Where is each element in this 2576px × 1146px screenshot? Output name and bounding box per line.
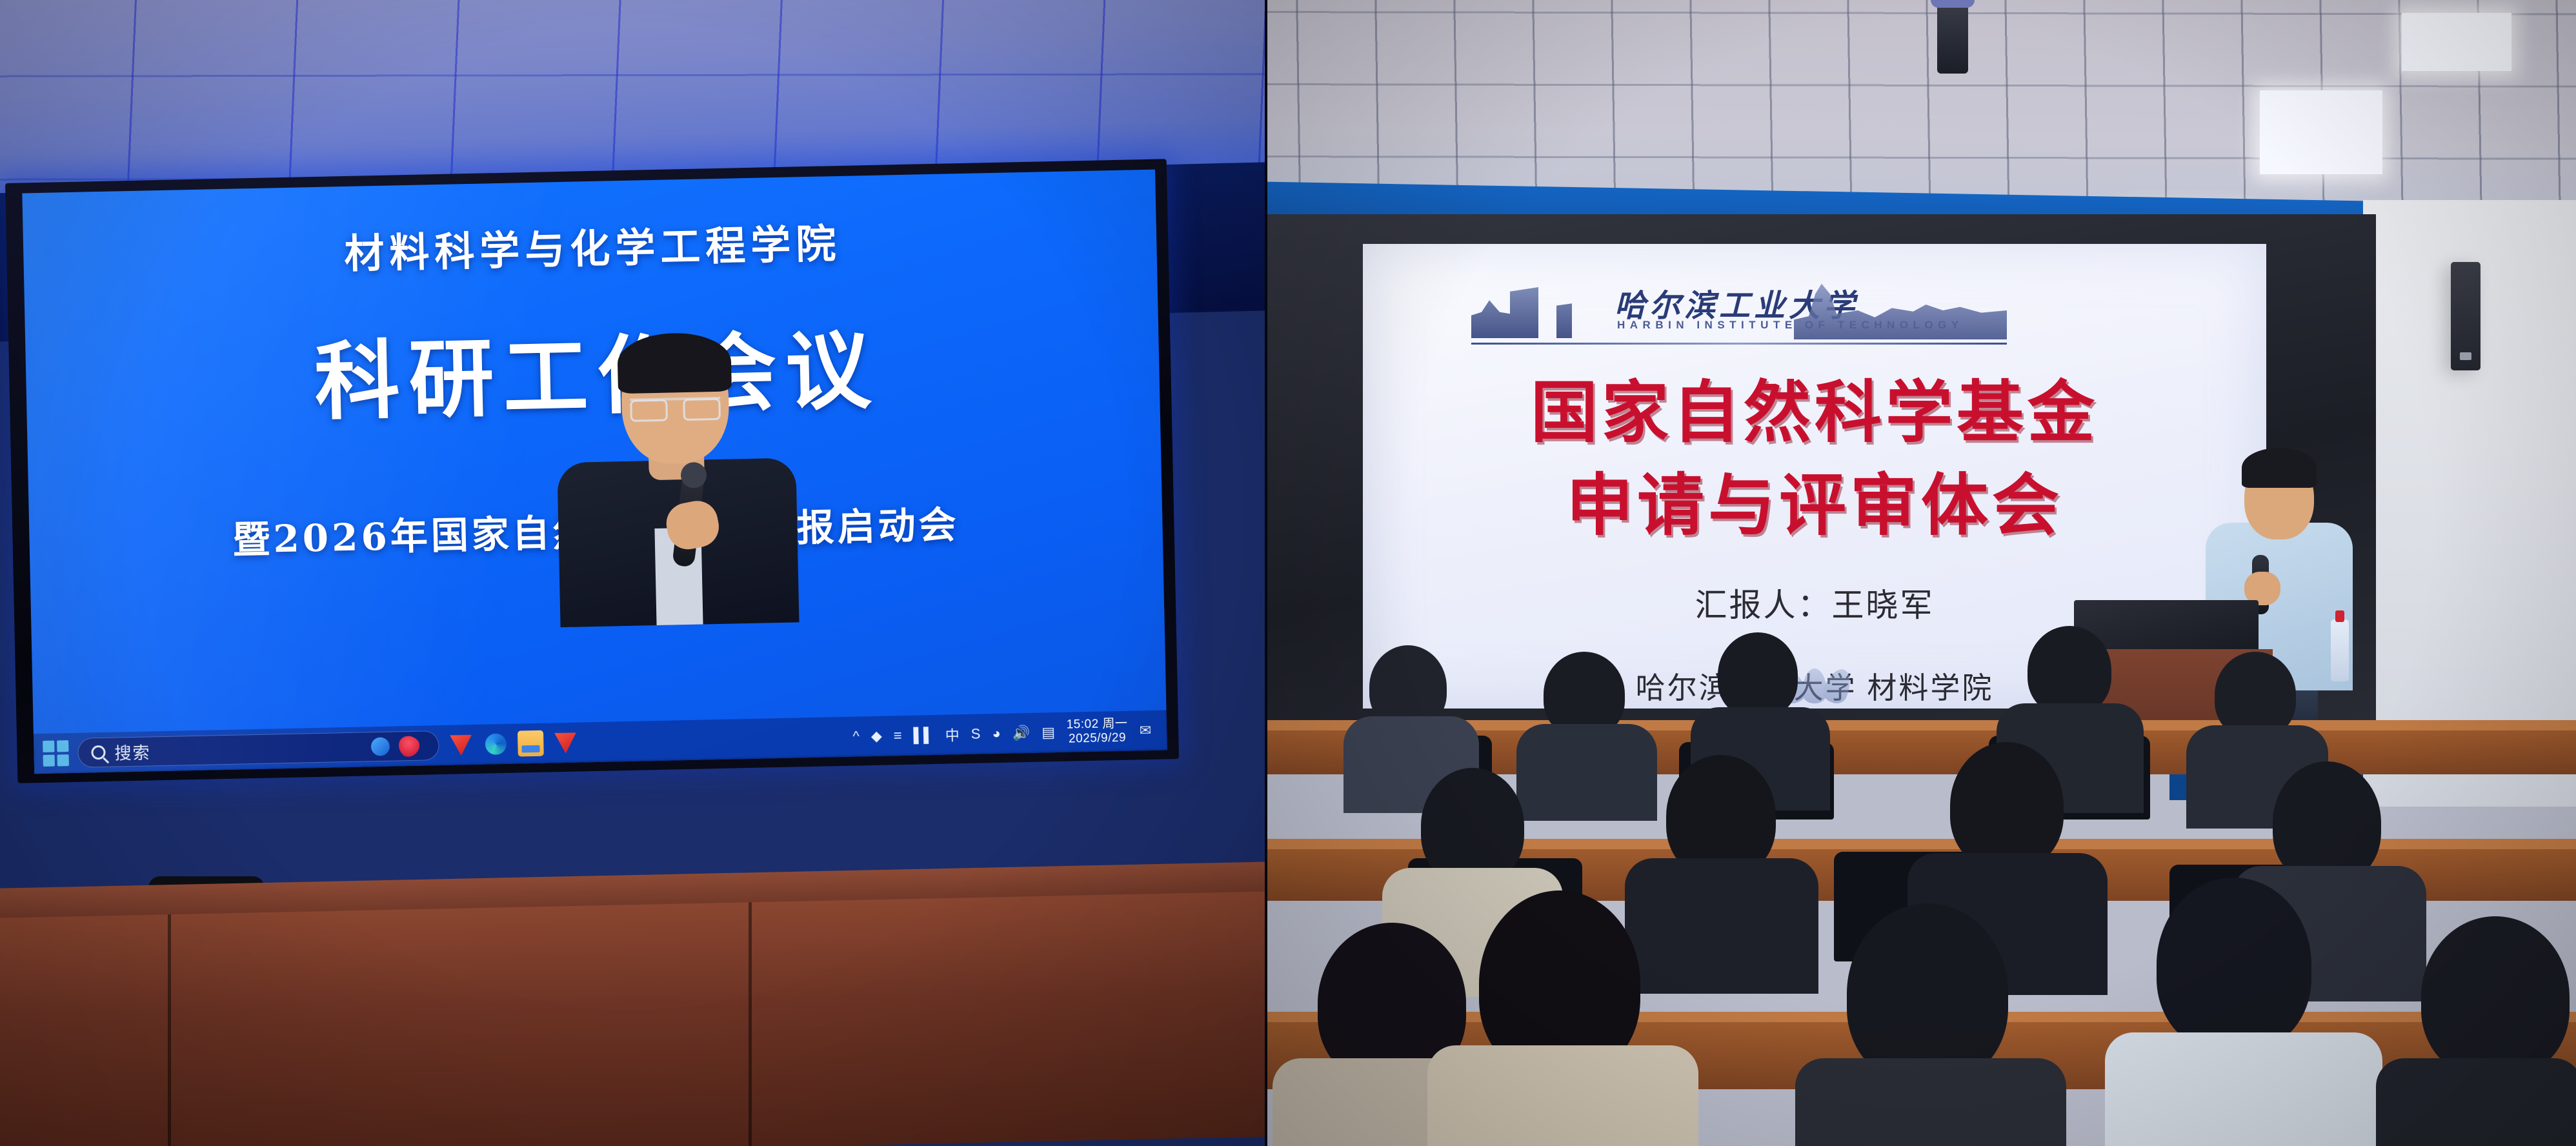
sogou-icon[interactable]: S [971,726,980,743]
notification-icon[interactable]: ✉ [1139,722,1151,739]
audience-head [2028,626,2111,715]
file-explorer-icon[interactable] [518,730,544,757]
input-method-icon[interactable]: ▌▌ [913,727,934,744]
wps-writer-icon[interactable] [552,730,579,756]
windows-taskbar[interactable]: 搜索 ^ ◆ ≡ ▌▌ 中 [34,710,1167,774]
stethoscope-icon[interactable] [371,737,390,756]
audience-head [1718,632,1798,718]
wps-office-icon[interactable] [448,732,474,758]
settings-icon[interactable]: ≡ [893,727,901,744]
search-widget-icons [367,733,422,760]
ceiling-light-panel-3 [2402,13,2511,71]
eyeglasses-icon [630,397,721,418]
app-tray-icon[interactable]: ◆ [871,728,882,745]
system-tray[interactable]: ^ ◆ ≡ ▌▌ 中 S ◕ 🔊 ▤ 15:02 周一 2025/9/29 [852,716,1158,751]
panel-seam-divider [1265,0,1267,1146]
left-photo-panel: 材料科学与化学工程学院 科研工作会议 暨2026年国家自然科学基金申报启动会 [0,0,1266,1146]
led-display-screen[interactable]: 材料科学与化学工程学院 科研工作会议 暨2026年国家自然科学基金申报启动会 [22,170,1167,774]
slide-title-line2: 申请与评审体会 [1363,450,2266,548]
start-button-icon[interactable] [43,740,69,767]
volume-icon[interactable]: 🔊 [1012,725,1030,742]
search-placeholder-text: 搜索 [114,739,151,764]
audience-torso [1625,858,1818,994]
audience-head-front [2157,878,2311,1052]
presenter-hair [2242,448,2317,488]
clock-date: 2025/9/29 [1067,731,1128,747]
water-bottle-icon [2331,619,2349,681]
photo-composite: 材料科学与化学工程学院 科研工作会议 暨2026年国家自然科学基金申报启动会 [0,0,2576,1146]
wall-speaker-icon [2451,262,2480,370]
hit-university-logo: 哈尔滨工业大学 HARBIN INSTITUTE OF TECHNOLOGY [1471,275,2007,345]
podium-desk-left [0,875,1266,1146]
battery-icon[interactable]: ▤ [1041,724,1055,741]
audience-head-front [1847,903,2008,1084]
chevron-up-icon[interactable]: ^ [852,728,860,745]
left-speaker-figure [536,364,818,628]
audience-torso-front [1795,1058,2066,1146]
audience-head [1950,742,2064,870]
ceiling-light-panel-1 [2260,90,2382,174]
campus-building-left-icon [1471,284,1600,338]
audience-torso [1516,724,1657,821]
audience-torso-front [2376,1058,2576,1146]
ceiling-projector-icon [1937,0,1968,74]
slide-title-line1: 国家自然科学基金 [1363,357,2266,455]
right-photo-panel: 哈尔滨工业大学 HARBIN INSTITUTE OF TECHNOLOGY 国… [1266,0,2576,1146]
audience-head-front [2421,916,2570,1078]
chinese-ime-icon[interactable]: 中 [945,724,960,745]
podium-front-panel [0,891,1266,1146]
wifi-icon[interactable]: ◕ [992,725,1001,742]
heart-icon[interactable] [394,731,423,760]
clock-time: 15:02 周一 [1066,717,1127,732]
led-display-bezel: 材料科学与化学工程学院 科研工作会议 暨2026年国家自然科学基金申报启动会 [5,159,1179,783]
slide-college-name: 材料科学与化学工程学院 [23,205,1156,286]
search-icon [91,745,105,759]
taskbar-clock[interactable]: 15:02 周一 2025/9/29 [1066,717,1128,747]
audience-torso-front [2105,1032,2382,1146]
search-input[interactable]: 搜索 [77,730,439,768]
audience-head [1421,768,1524,884]
audience-torso-front [1427,1045,1698,1146]
logo-divider [1471,343,2007,345]
microsoft-edge-icon[interactable] [485,734,507,755]
campus-building-right-icon [1794,281,2007,339]
